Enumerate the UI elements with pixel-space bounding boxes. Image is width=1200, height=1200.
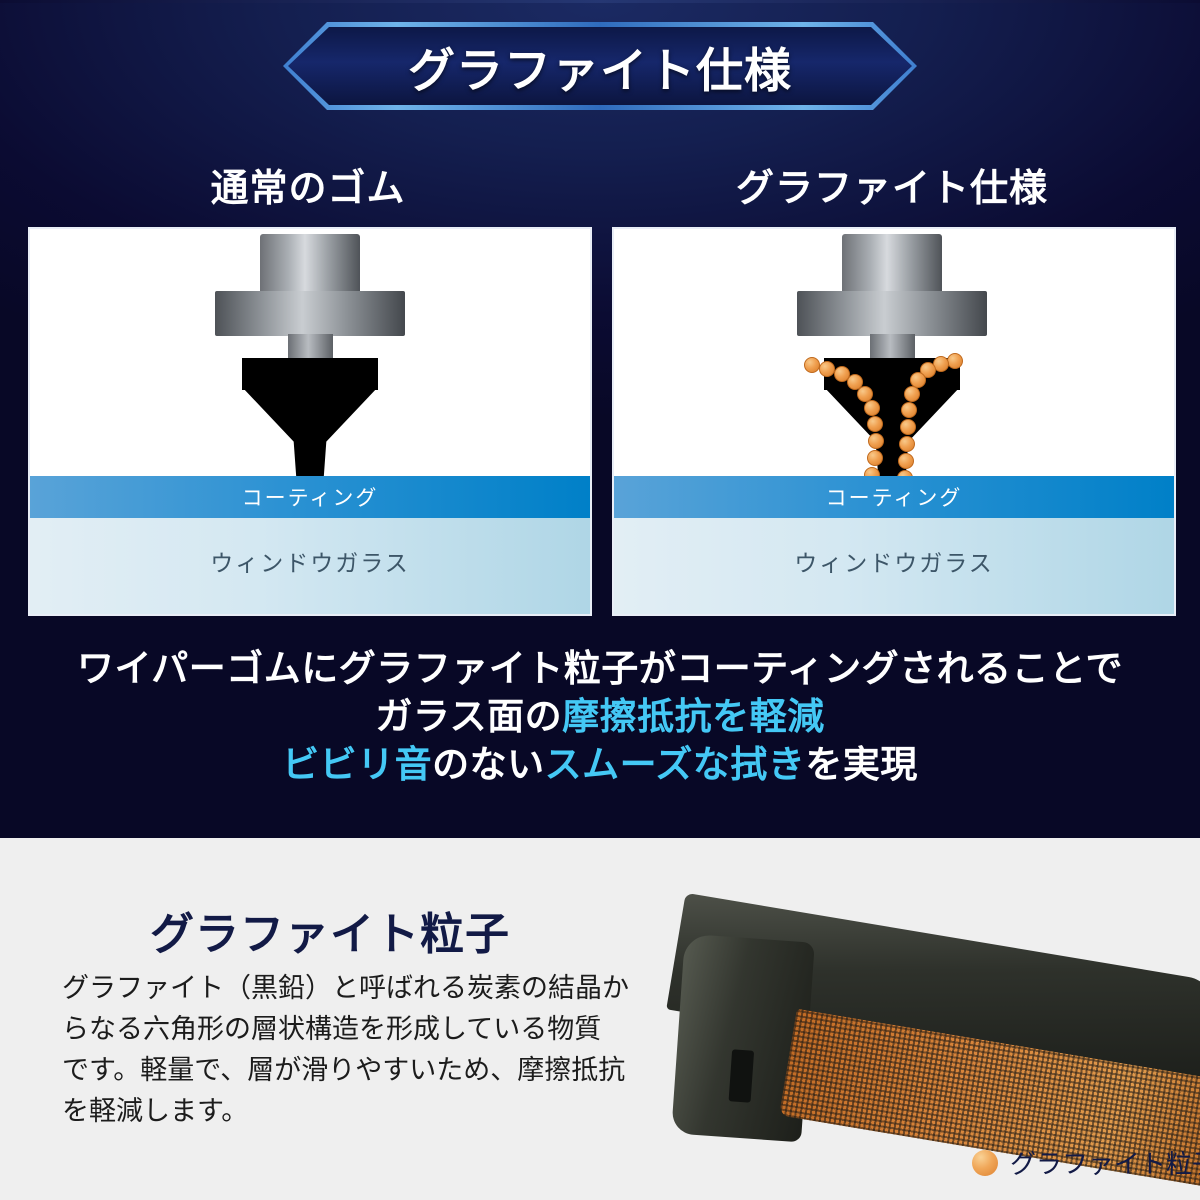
right-panel-header: グラファイト仕様 xyxy=(612,158,1172,210)
graphite-particle-icon xyxy=(864,400,880,416)
graphite-particle-icon xyxy=(972,1150,998,1176)
bottom-body-line-4: を軽減します。 xyxy=(62,1091,628,1132)
bottom-body-line-1: グラファイト（黒鉛）と呼ばれる炭素の結晶か xyxy=(62,968,628,1009)
wiper-holder-cylinder xyxy=(260,234,360,296)
wiper-holder-flange xyxy=(797,291,987,336)
bottom-body-line-2: らなる六角形の層状構造を形成している物質 xyxy=(62,1009,628,1050)
left-diagram-panel: 摩擦でビビリ音 摩擦抵抗が大きい コーティング ウィンドウガラス xyxy=(28,227,592,616)
bottom-body-line-3: です。軽量で、層が滑りやすいため、摩擦抵抗 xyxy=(62,1050,628,1091)
glass-layer-right: ウィンドウガラス xyxy=(614,518,1174,614)
coating-label-right: コーティング xyxy=(826,482,963,512)
left-panel-header: 通常のゴム xyxy=(28,158,588,210)
glass-label-right: ウィンドウガラス xyxy=(794,544,994,578)
infographic-page: グラファイト仕様 通常のゴム グラファイト仕様 摩擦でビビリ音 xyxy=(0,0,1200,1200)
graphite-particle-icon xyxy=(900,419,916,435)
graphite-particle-icon xyxy=(898,453,914,469)
graphite-particle-icon xyxy=(867,450,883,466)
graphite-legend: グラファイト粒子 xyxy=(972,1144,1200,1181)
description-line-3-plain-1: のない xyxy=(432,744,545,785)
coating-layer-right: コーティング xyxy=(614,476,1174,518)
description-line-3: ビビリ音のないスムーズな拭きを実現 xyxy=(0,741,1200,789)
wiper-holder-cylinder xyxy=(842,234,942,296)
graphite-particle-icon xyxy=(901,402,917,418)
bottom-body-text: グラファイト（黒鉛）と呼ばれる炭素の結晶か らなる六角形の層状構造を形成している… xyxy=(62,968,628,1132)
wiper-holder-neck xyxy=(288,334,333,360)
wiper-holder-flange xyxy=(215,291,405,336)
title-banner: グラファイト仕様 xyxy=(283,22,917,110)
graphite-particle-icon xyxy=(904,386,920,402)
right-diagram-panel: 摩擦抵抗が少ない グラファイト粒子 スムーズな動き コーティング ウィンドウガラ… xyxy=(612,227,1176,616)
banner-title-text: グラファイト仕様 xyxy=(283,22,917,110)
coating-label-left: コーティング xyxy=(242,482,379,512)
graphite-particle-icon xyxy=(947,353,963,369)
graphite-particle-icon xyxy=(804,357,820,373)
glass-label-left: ウィンドウガラス xyxy=(210,544,410,578)
rubber-blade-top xyxy=(242,358,378,390)
graphite-particle-icon xyxy=(819,361,835,377)
description-block: ワイパーゴムにグラファイト粒子がコーティングされることで ガラス面の摩擦抵抗を軽… xyxy=(0,645,1200,789)
description-line-3-highlight-2: スムーズな拭き xyxy=(545,744,806,785)
graphite-particle-icon xyxy=(867,416,883,432)
description-line-2: ガラス面の摩擦抵抗を軽減 xyxy=(0,693,1200,741)
bottom-heading: グラファイト粒子 xyxy=(150,898,510,962)
coating-layer-left: コーティング xyxy=(30,476,590,518)
wiper-blade-notch xyxy=(729,1049,755,1102)
description-line-3-plain-2: を実現 xyxy=(805,744,918,785)
description-line-1: ワイパーゴムにグラファイト粒子がコーティングされることで xyxy=(0,645,1200,693)
glass-layer-left: ウィンドウガラス xyxy=(30,518,590,614)
wiper-holder-neck xyxy=(870,334,915,360)
top-section: グラファイト仕様 通常のゴム グラファイト仕様 摩擦でビビリ音 xyxy=(0,0,1200,838)
description-line-3-highlight-1: ビビリ音 xyxy=(282,744,432,785)
description-line-2-plain: ガラス面の xyxy=(375,696,562,737)
description-line-2-highlight: 摩擦抵抗を軽減 xyxy=(562,696,825,737)
graphite-legend-label: グラファイト粒子 xyxy=(1010,1144,1200,1181)
graphite-particle-icon xyxy=(868,433,884,449)
graphite-particle-icon xyxy=(899,436,915,452)
